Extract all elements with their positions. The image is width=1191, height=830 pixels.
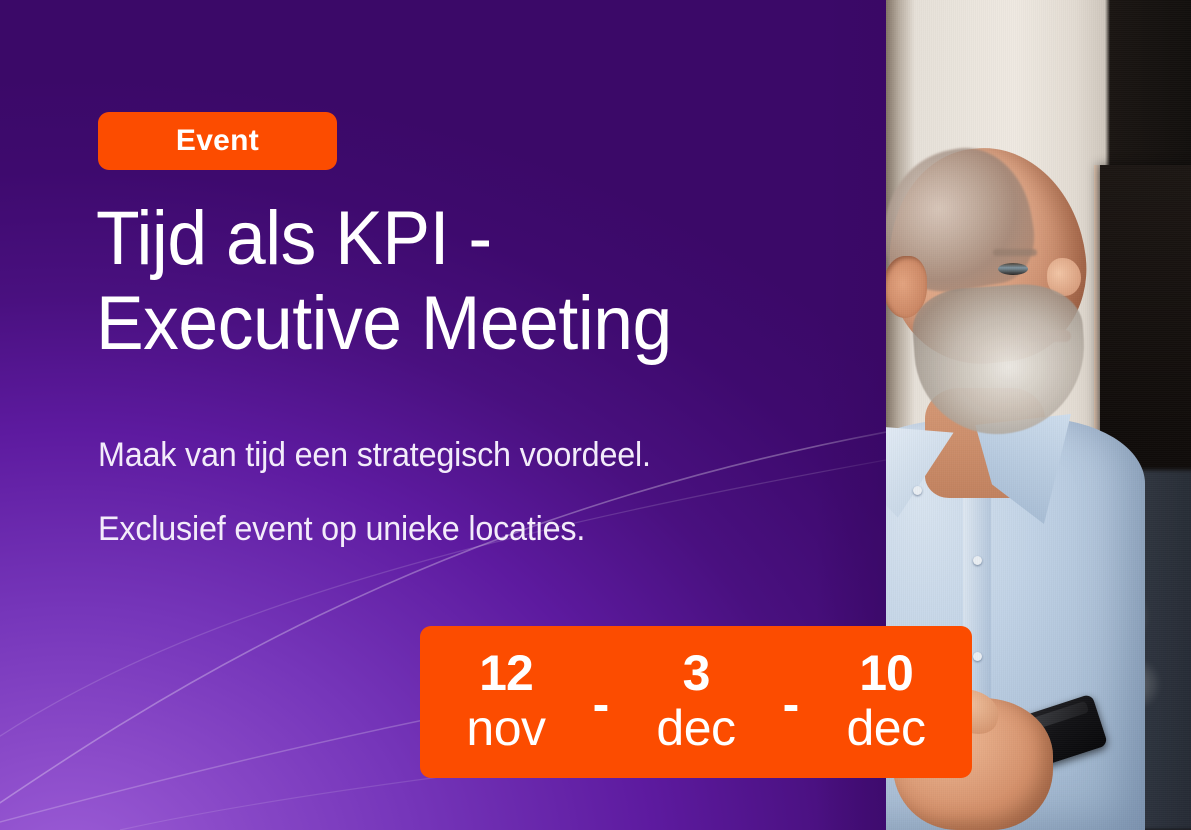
page-title-line-2: Executive Meeting <box>96 281 810 366</box>
event-banner: Event Tijd als KPI - Executive Meeting M… <box>0 0 1191 830</box>
event-dates-card[interactable]: 12 nov - 3 dec - 10 dec <box>420 626 972 778</box>
date-month-2: dec <box>656 700 735 756</box>
date-month-1: nov <box>466 700 545 756</box>
photo-collar-button <box>913 486 922 495</box>
photo-shirt-button <box>973 652 982 661</box>
page-title: Tijd als KPI - Executive Meeting <box>96 196 810 366</box>
date-month-3: dec <box>846 700 925 756</box>
date-day-2: 3 <box>683 648 710 698</box>
subtitle-line-2: Exclusief event op unieke locaties. <box>98 510 839 548</box>
date-day-3: 10 <box>859 648 913 698</box>
photo-eye <box>998 263 1028 275</box>
event-badge[interactable]: Event <box>98 112 337 170</box>
event-badge-label: Event <box>176 126 259 156</box>
date-block-1: 12 nov <box>434 648 578 756</box>
photo-eyebrow <box>993 249 1037 256</box>
date-separator-1: - <box>578 679 624 729</box>
date-day-1: 12 <box>479 648 533 698</box>
date-block-2: 3 dec <box>624 648 768 756</box>
subtitle-line-1: Maak van tijd een strategisch voordeel. <box>98 436 839 474</box>
page-title-line-1: Tijd als KPI - <box>96 196 492 281</box>
subtitle: Maak van tijd een strategisch voordeel. … <box>98 436 839 548</box>
event-dates-track: 12 nov - 3 dec - 10 dec <box>420 626 972 778</box>
date-separator-2: - <box>768 679 814 729</box>
date-block-3: 10 dec <box>814 648 958 756</box>
photo-shirt-button <box>973 556 982 565</box>
